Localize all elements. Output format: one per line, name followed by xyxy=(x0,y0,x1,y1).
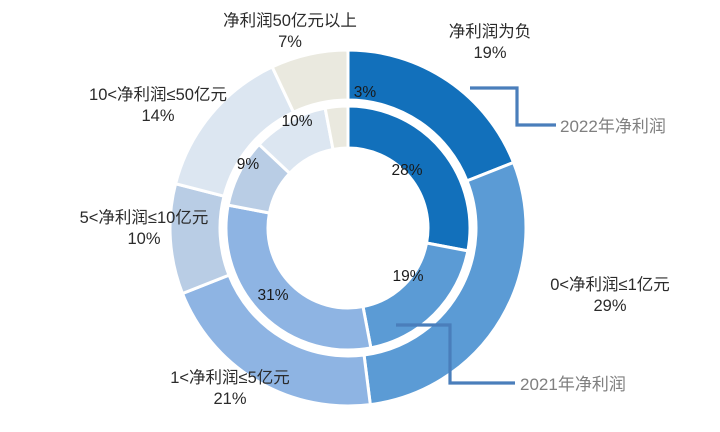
category-label-0-pct: 19% xyxy=(400,43,580,64)
category-label-2: 1<净利润≤5亿元 21% xyxy=(130,368,330,410)
category-label-0: 净利润为负 19% xyxy=(400,22,580,64)
category-label-4-name: 10<净利润≤50亿元 xyxy=(89,86,227,104)
inner-value-4: 10% xyxy=(272,113,322,131)
doughnut-chart: 净利润为负 19% 0<净利润≤1亿元 29% 1<净利润≤5亿元 21% 5<… xyxy=(0,0,720,432)
category-label-5: 净利润50亿元以上 7% xyxy=(188,11,392,53)
category-label-1-pct: 29% xyxy=(510,296,710,317)
series-label-2021: 2021年净利润 xyxy=(520,370,626,395)
inner-ring-2021 xyxy=(226,106,470,350)
category-label-0-name: 净利润为负 xyxy=(449,23,532,41)
inner-value-3: 9% xyxy=(228,156,268,174)
inner-value-1: 19% xyxy=(383,268,433,286)
category-label-4-pct: 14% xyxy=(58,106,258,127)
category-label-3-name: 5<净利润≤10亿元 xyxy=(80,209,209,227)
inner-value-2: 31% xyxy=(248,287,298,305)
category-label-1: 0<净利润≤1亿元 29% xyxy=(510,275,710,317)
category-label-1-name: 0<净利润≤1亿元 xyxy=(550,276,670,294)
series-label-2022: 2022年净利润 xyxy=(560,112,666,137)
category-label-3-pct: 10% xyxy=(44,229,244,250)
category-label-2-pct: 21% xyxy=(130,389,330,410)
category-label-4: 10<净利润≤50亿元 14% xyxy=(58,85,258,127)
category-label-2-name: 1<净利润≤5亿元 xyxy=(170,369,290,387)
category-label-3: 5<净利润≤10亿元 10% xyxy=(44,208,244,250)
inner-value-5: 3% xyxy=(343,84,387,102)
category-label-5-pct: 7% xyxy=(188,32,392,53)
category-label-5-name: 净利润50亿元以上 xyxy=(223,12,357,30)
inner-value-0: 28% xyxy=(382,162,432,180)
